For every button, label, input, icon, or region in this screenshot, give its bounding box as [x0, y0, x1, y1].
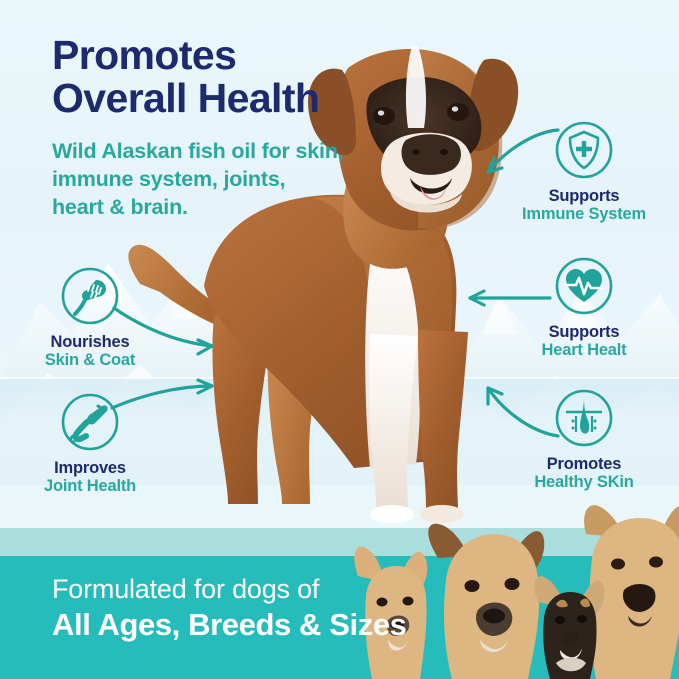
feature-line-1: Nourishes: [6, 333, 174, 351]
four-dogs-group-photo-overlay: [340, 498, 679, 679]
feature-line-1: Promotes: [500, 455, 668, 473]
headline-line-1: Promotes: [52, 34, 382, 77]
feature-supports-immune-system[interactable]: Supports Immune System: [500, 120, 668, 224]
subtitle: Wild Alaskan fish oil for skin, immune s…: [52, 138, 382, 222]
feature-nourishes-skin-and-coat[interactable]: Nourishes Skin & Coat: [6, 266, 174, 370]
footer-line-2: All Ages, Breeds & Sizes: [52, 607, 407, 643]
hair-follicle-icon: [554, 388, 614, 448]
headline-line-2: Overall Health: [52, 77, 382, 120]
page-title: Promotes Overall Health: [52, 34, 382, 121]
feature-line-1: Improves: [6, 459, 174, 477]
feature-line-2: Joint Health: [6, 477, 174, 495]
bone-joint-icon: [60, 392, 120, 452]
feature-line-2: Skin & Coat: [6, 351, 174, 369]
feature-line-1: Supports: [500, 187, 668, 205]
footer-line-1: Formulated for dogs of: [52, 574, 319, 605]
feature-line-2: Heart Healt: [500, 341, 668, 359]
feature-line-2: Healthy SKin: [500, 473, 668, 491]
heart-pulse-icon: [554, 256, 614, 316]
shield-cross-icon: [554, 120, 614, 180]
feature-line-2: Immune System: [500, 205, 668, 223]
subtitle-line-1: Wild Alaskan fish oil for skin,: [52, 138, 382, 166]
feature-improves-joint-health[interactable]: Improves Joint Health: [6, 392, 174, 496]
infographic-canvas: Promotes Overall Health Wild Alaskan fis…: [0, 0, 679, 679]
feature-promotes-healthy-skin[interactable]: Promotes Healthy SKin: [500, 388, 668, 492]
grooming-brush-icon: [60, 266, 120, 326]
subtitle-line-3: heart & brain.: [52, 194, 382, 222]
feature-supports-heart-health[interactable]: Supports Heart Healt: [500, 256, 668, 360]
subtitle-line-2: immune system, joints,: [52, 166, 382, 194]
feature-line-1: Supports: [500, 323, 668, 341]
